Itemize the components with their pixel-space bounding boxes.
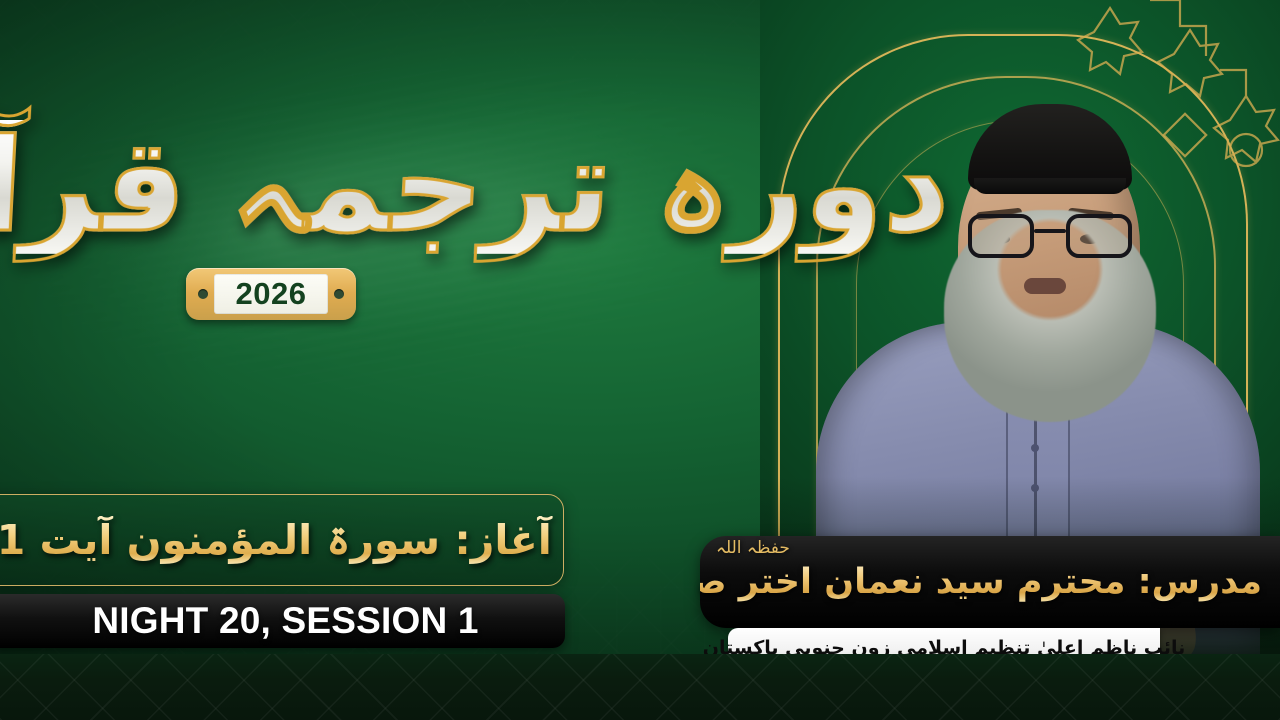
program-title: دورہ ترجمہ قرآن [0, 120, 954, 254]
program-logo: دورہ ترجمہ قرآن [40, 72, 780, 302]
bottom-strip [0, 654, 1280, 720]
year-label: 2026 [236, 276, 307, 312]
badge-dot-left [198, 289, 208, 299]
honorific-label: حفظہ اللہ [716, 540, 790, 558]
badge-dot-right [334, 289, 344, 299]
session-label: NIGHT 20, SESSION 1 [66, 600, 478, 642]
bottom-strip-pattern-icon [0, 654, 1280, 720]
speaker-name: مدرس: محترم سید نعمان اختر صاحب [700, 562, 1262, 602]
surah-info-text: آغاز: سورۃ المؤمنون آیت 51 [0, 516, 570, 564]
session-bar: NIGHT 20, SESSION 1 [0, 594, 565, 648]
speaker-name-banner: حفظہ اللہ مدرس: محترم سید نعمان اختر صاح… [700, 536, 1280, 628]
title-card: دورہ ترجمہ قرآن 2026 آغاز: سورۃ المؤمنون… [0, 0, 1280, 720]
badge-plate: 2026 [214, 274, 328, 314]
year-badge: 2026 [186, 268, 356, 320]
surah-info-box: آغاز: سورۃ المؤمنون آیت 51 [0, 494, 564, 586]
